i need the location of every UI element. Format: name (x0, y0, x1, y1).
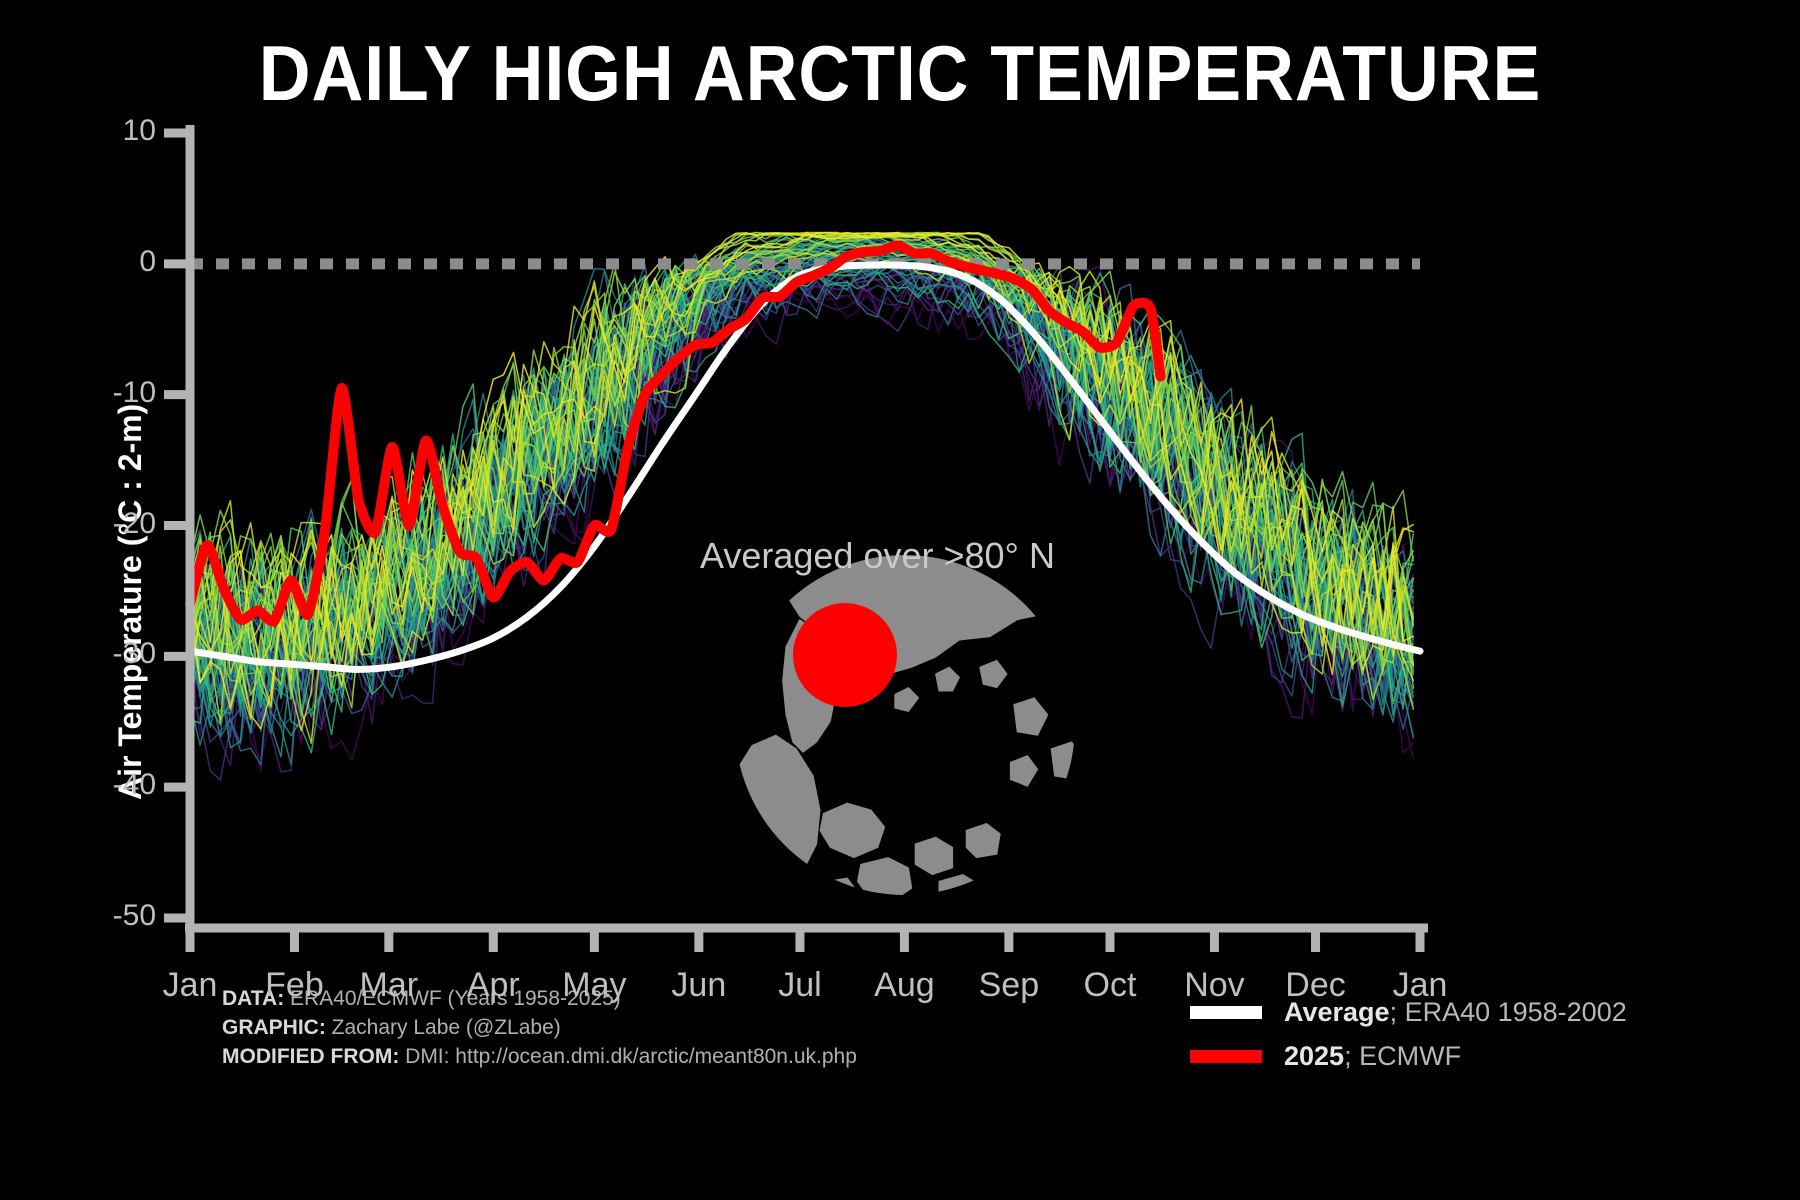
credit-modified-value: DMI: http://ocean.dmi.dk/arctic/meant80n… (399, 1045, 857, 1068)
map-land-island-1 (936, 667, 960, 691)
legend-label-rest-current-year: ; ECMWF (1344, 1041, 1461, 1071)
map-land-alaska (1072, 620, 1118, 732)
credit-modified-line: MODIFIED FROM: DMI: http://ocean.dmi.dk/… (222, 1043, 857, 1072)
map-land-caa-1 (820, 803, 885, 857)
map-land-caa-4 (939, 875, 980, 909)
x-tick-label: Jan (1340, 966, 1500, 1005)
current-year-endpoint (1156, 371, 1166, 381)
y-axis-label: Air Temperature (°C : 2-m) (112, 404, 149, 800)
y-tick-label: -30 (36, 637, 156, 671)
y-tick-label: -20 (36, 507, 156, 541)
y-tick-label: 10 (36, 114, 156, 148)
map-land-island-4 (1014, 698, 1048, 735)
map-land-caa-2 (857, 858, 911, 902)
legend-label-bold-current-year: 2025 (1284, 1041, 1344, 1071)
map-land-caa-6 (817, 878, 858, 909)
legend-swatch-average (1190, 1006, 1262, 1019)
map-region-marker (793, 603, 897, 707)
legend-item-current-year[interactable]: 2025; ECMWF (1190, 1034, 1627, 1078)
map-land-caa-3 (915, 837, 952, 874)
credit-graphic-line: GRAPHIC: Zachary Labe (@ZLabe) (222, 1014, 857, 1043)
map-land-greenland (725, 735, 820, 895)
region-annotation: Averaged over >80° N (700, 535, 1055, 577)
y-tick-label: -10 (36, 376, 156, 410)
credit-graphic-key: GRAPHIC: (222, 1016, 326, 1039)
y-tick-label: -50 (36, 899, 156, 933)
y-tick-label: 0 (36, 245, 156, 279)
map-land-island-5 (1051, 742, 1085, 779)
credit-modified-key: MODIFIED FROM: (222, 1045, 399, 1068)
legend-swatch-current-year (1190, 1050, 1262, 1063)
map-land-caa-5 (966, 824, 1000, 858)
y-tick-label: -40 (36, 768, 156, 802)
chart-canvas: DAILY HIGH ARCTIC TEMPERATURE Air Temper… (0, 0, 1800, 1200)
map-land-island-2 (980, 660, 1007, 687)
legend-label-current-year: 2025; ECMWF (1284, 1041, 1461, 1072)
map-land-island-3 (895, 688, 919, 712)
map-land-island-6 (1010, 756, 1037, 787)
credit-graphic-value: Zachary Labe (@ZLabe) (326, 1016, 561, 1039)
